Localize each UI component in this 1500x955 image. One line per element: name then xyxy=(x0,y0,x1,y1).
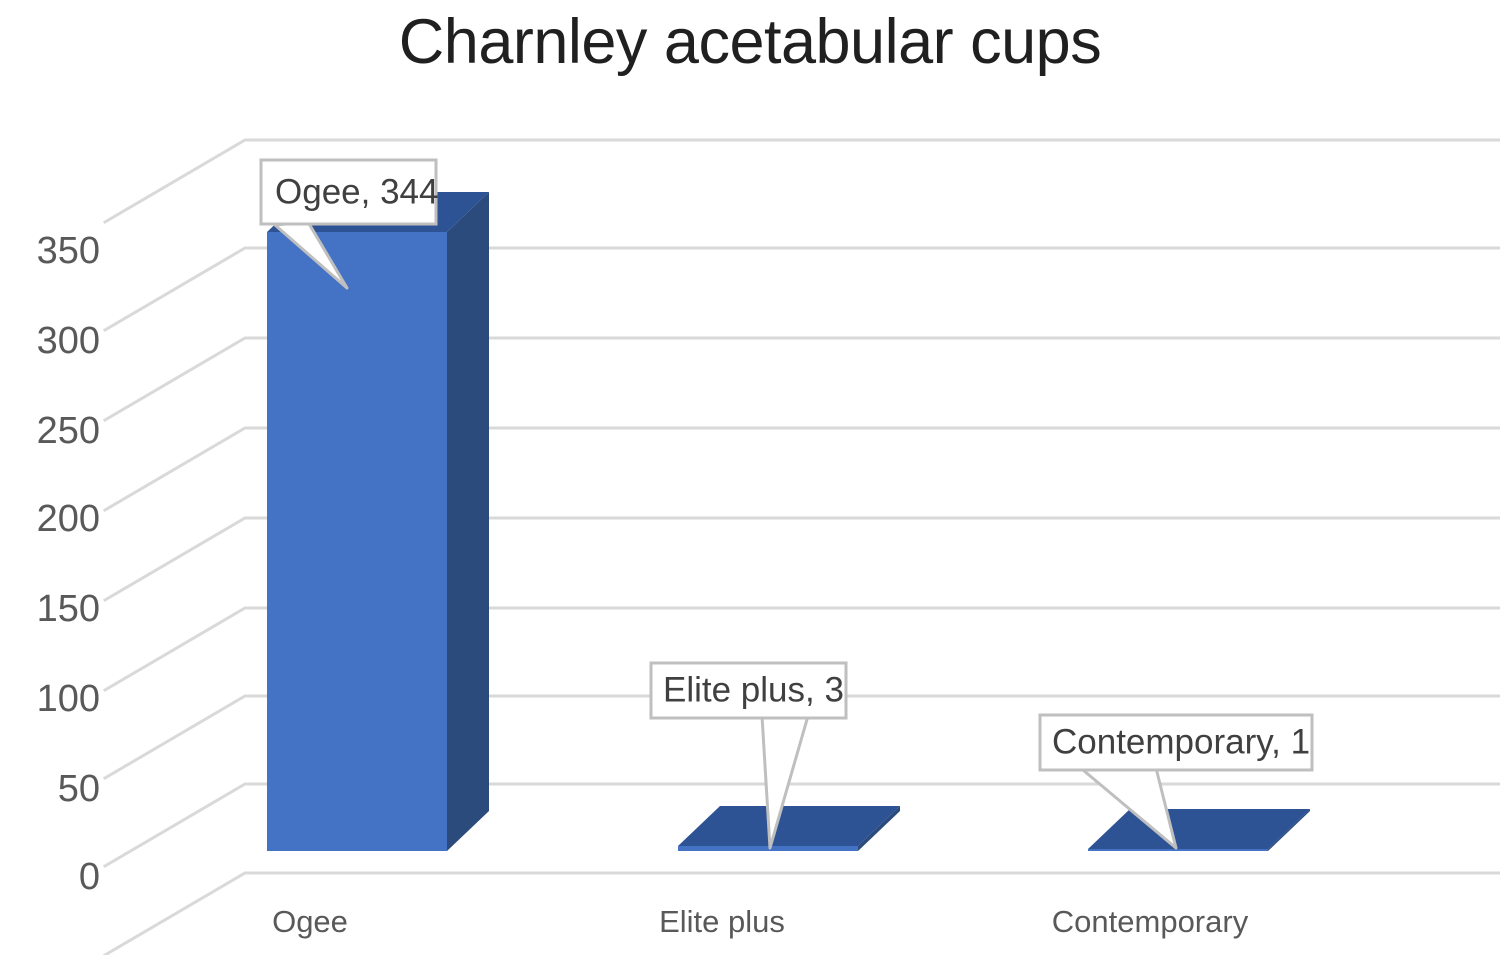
bar-contemporary-front-face xyxy=(1088,849,1268,851)
bar-elite-plus-front-face xyxy=(678,846,858,851)
bar-ogee-side-face xyxy=(447,192,489,851)
data-label-ogee-text: Ogee, 344 xyxy=(275,172,438,211)
bar-contemporary[interactable] xyxy=(1088,809,1310,851)
gridline-0 xyxy=(105,873,1500,955)
bar-ogee-front-face xyxy=(267,232,447,851)
chart-container: Charnley acetabular cups 0 50 100 150 20… xyxy=(0,0,1500,955)
data-label-elite-plus-text: Elite plus, 3 xyxy=(663,670,844,709)
bar-elite-plus[interactable] xyxy=(678,806,900,851)
bar-ogee[interactable] xyxy=(267,192,489,851)
bar-contemporary-top-face xyxy=(1088,809,1310,849)
data-label-contemporary-text: Contemporary, 1 xyxy=(1052,722,1310,761)
plot-area: Ogee, 344 Elite plus, 3 Contemporary, 1 xyxy=(0,0,1500,955)
